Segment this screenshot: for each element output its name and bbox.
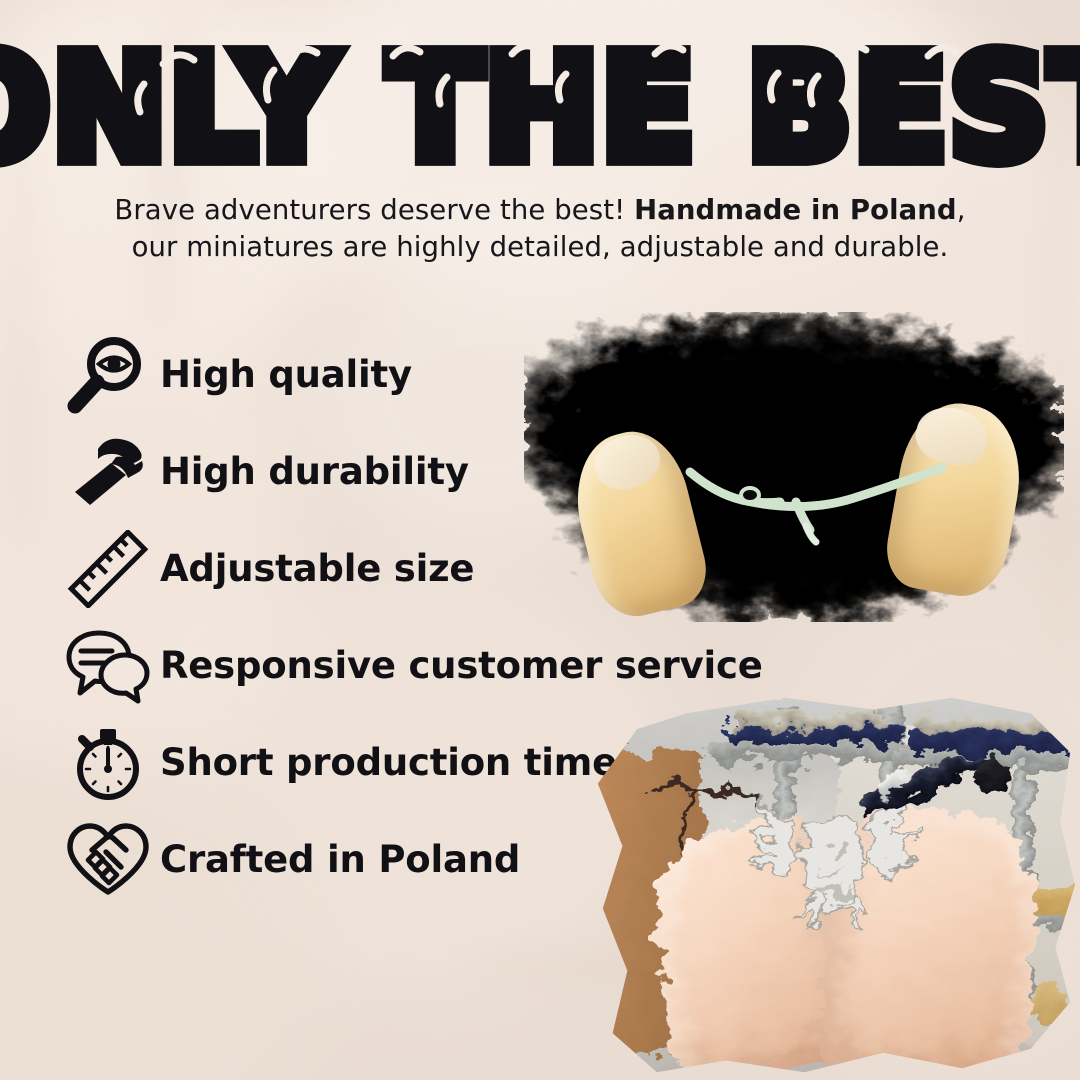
feature-label: Adjustable size bbox=[160, 547, 474, 590]
headline-area: ONLY THE BEST bbox=[0, 36, 1080, 154]
stopwatch-icon bbox=[60, 720, 156, 806]
ink-speck bbox=[774, 604, 782, 612]
feature-label: Short production time bbox=[160, 741, 617, 784]
ink-speck bbox=[576, 408, 581, 413]
feature-label: High durability bbox=[160, 450, 469, 493]
ink-speck bbox=[1022, 398, 1028, 404]
speech-bubbles-icon bbox=[60, 623, 156, 709]
subtitle-line-1: Brave adventurers deserve the best! Hand… bbox=[0, 192, 1080, 229]
miniature-flexibility-photo bbox=[524, 312, 1064, 622]
heart-handshake-icon bbox=[60, 817, 156, 903]
subtitle-bold: Handmade in Poland bbox=[634, 194, 957, 226]
dragon-miniature bbox=[738, 786, 928, 946]
flexible-miniature-part bbox=[684, 462, 948, 548]
feature-label: Responsive customer service bbox=[160, 644, 763, 687]
shelf-beam bbox=[708, 742, 908, 760]
poster-canvas: ONLY THE BEST Brave adventurers deserve … bbox=[0, 0, 1080, 1080]
miniature-tray bbox=[906, 732, 1076, 752]
feature-label: Crafted in Poland bbox=[160, 838, 520, 881]
ruler-icon bbox=[60, 526, 156, 612]
tray-contents bbox=[738, 714, 888, 728]
magnifier-eye-icon bbox=[60, 332, 156, 418]
subtitle: Brave adventurers deserve the best! Hand… bbox=[0, 192, 1080, 266]
feature-label: High quality bbox=[160, 353, 412, 396]
subtitle-tail: , bbox=[957, 194, 966, 226]
workshop-painting-photo bbox=[588, 690, 1080, 1080]
subtitle-lead: Brave adventurers deserve the best! bbox=[114, 194, 634, 226]
miniature-tray bbox=[728, 726, 898, 744]
page-title: ONLY THE BEST bbox=[0, 36, 1080, 180]
subtitle-line-2: our miniatures are highly detailed, adju… bbox=[0, 229, 1080, 266]
ink-speck bbox=[542, 452, 548, 458]
ink-speck bbox=[558, 376, 565, 383]
tray-contents bbox=[914, 718, 1068, 734]
hammer-icon bbox=[60, 429, 156, 515]
